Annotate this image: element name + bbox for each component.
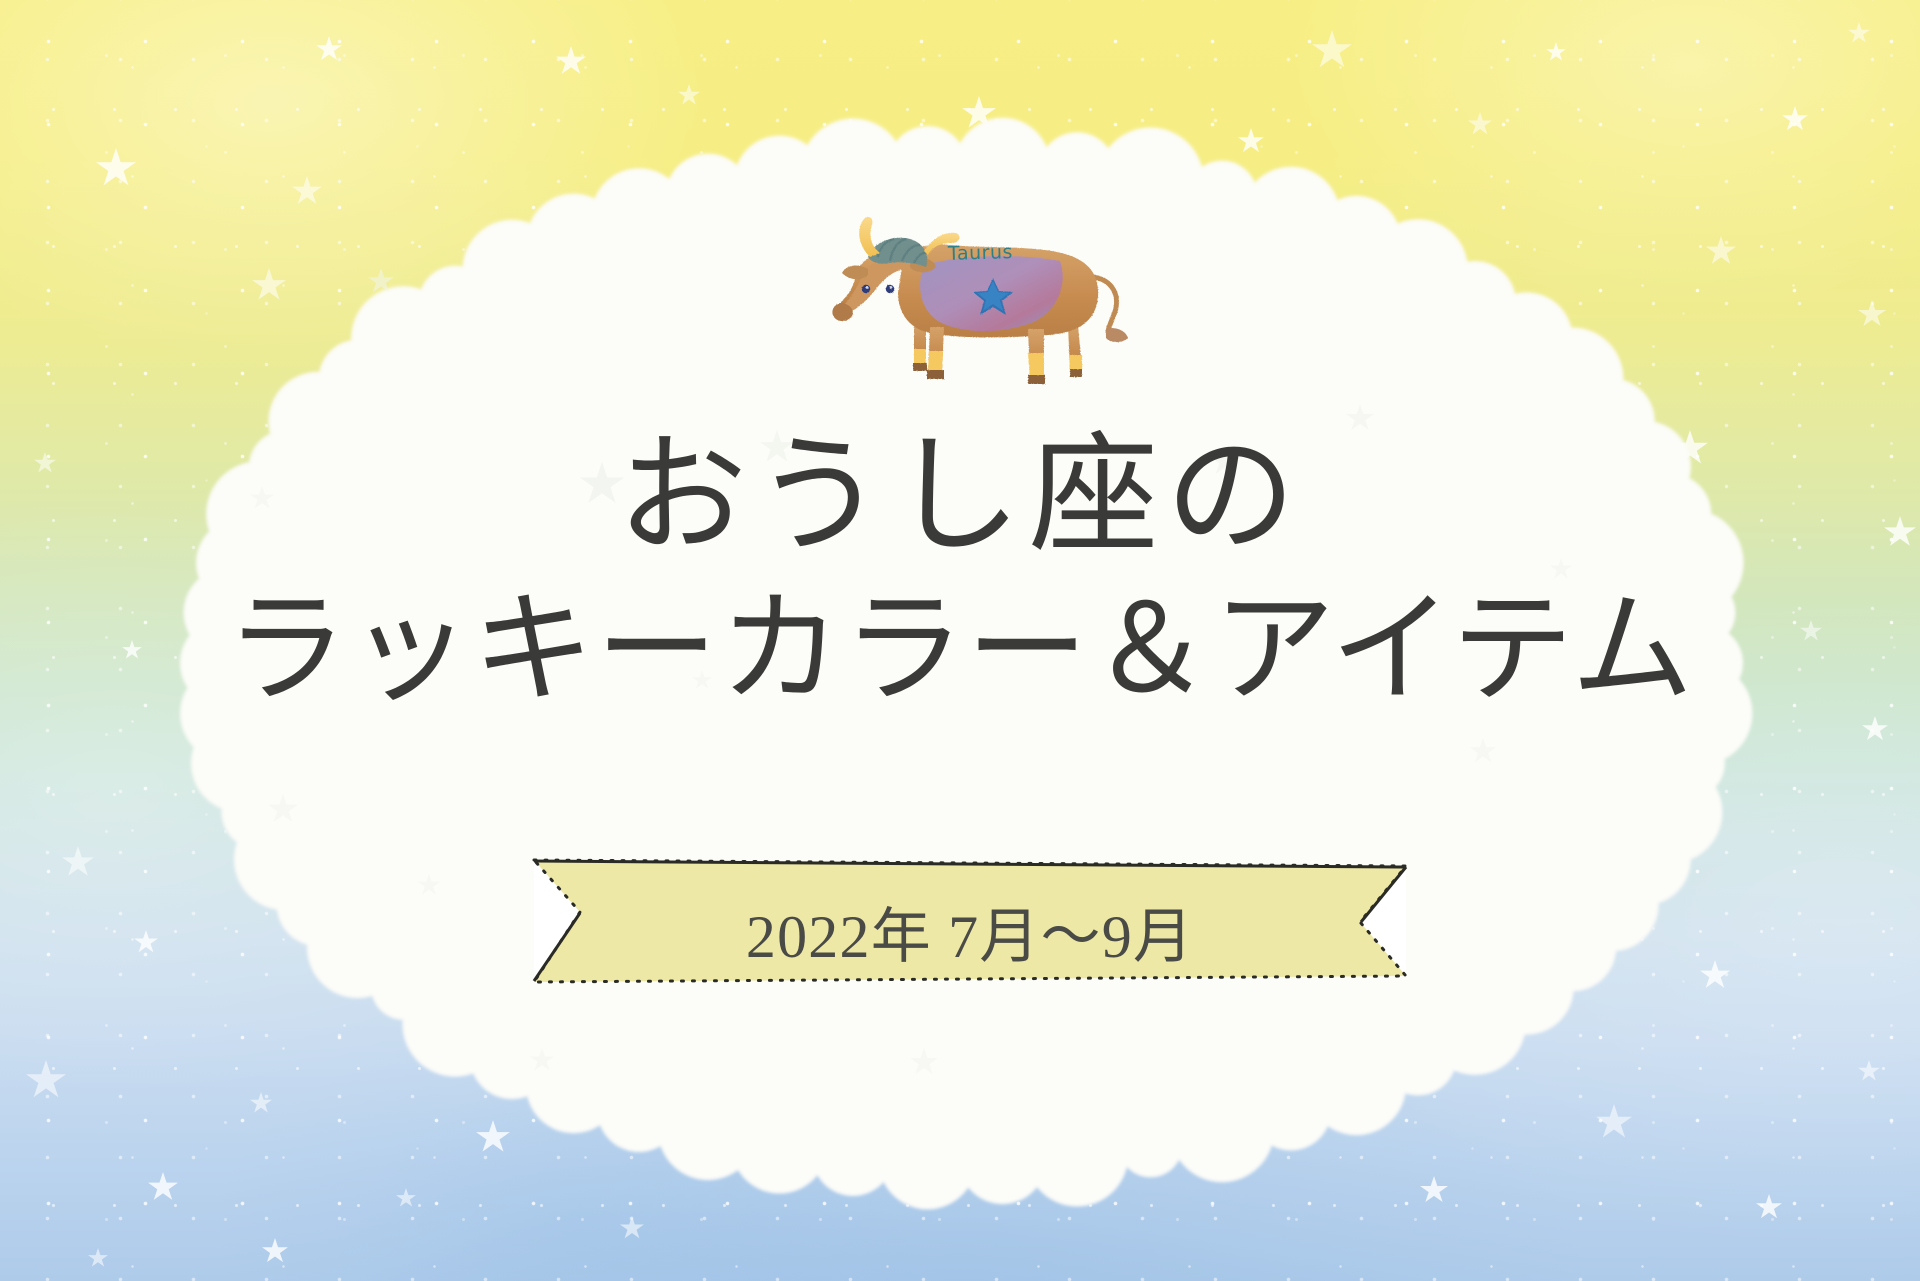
period-ribbon-label: 2022年 7月〜9月	[520, 888, 1420, 975]
page-title: おうし座の ラッキーカラー＆アイテム	[0, 432, 1920, 712]
title-line-2: ラッキーカラー＆アイテム	[0, 590, 1920, 712]
poster-canvas: Taurus おうし座の ラッキーカラー＆アイテム 2022年 7月〜9月	[0, 0, 1920, 1281]
taurus-script-label: Taurus	[948, 241, 1013, 265]
title-line-1: おうし座の	[0, 432, 1920, 562]
bull-illustration	[810, 205, 1150, 390]
period-ribbon: 2022年 7月〜9月	[520, 848, 1420, 994]
